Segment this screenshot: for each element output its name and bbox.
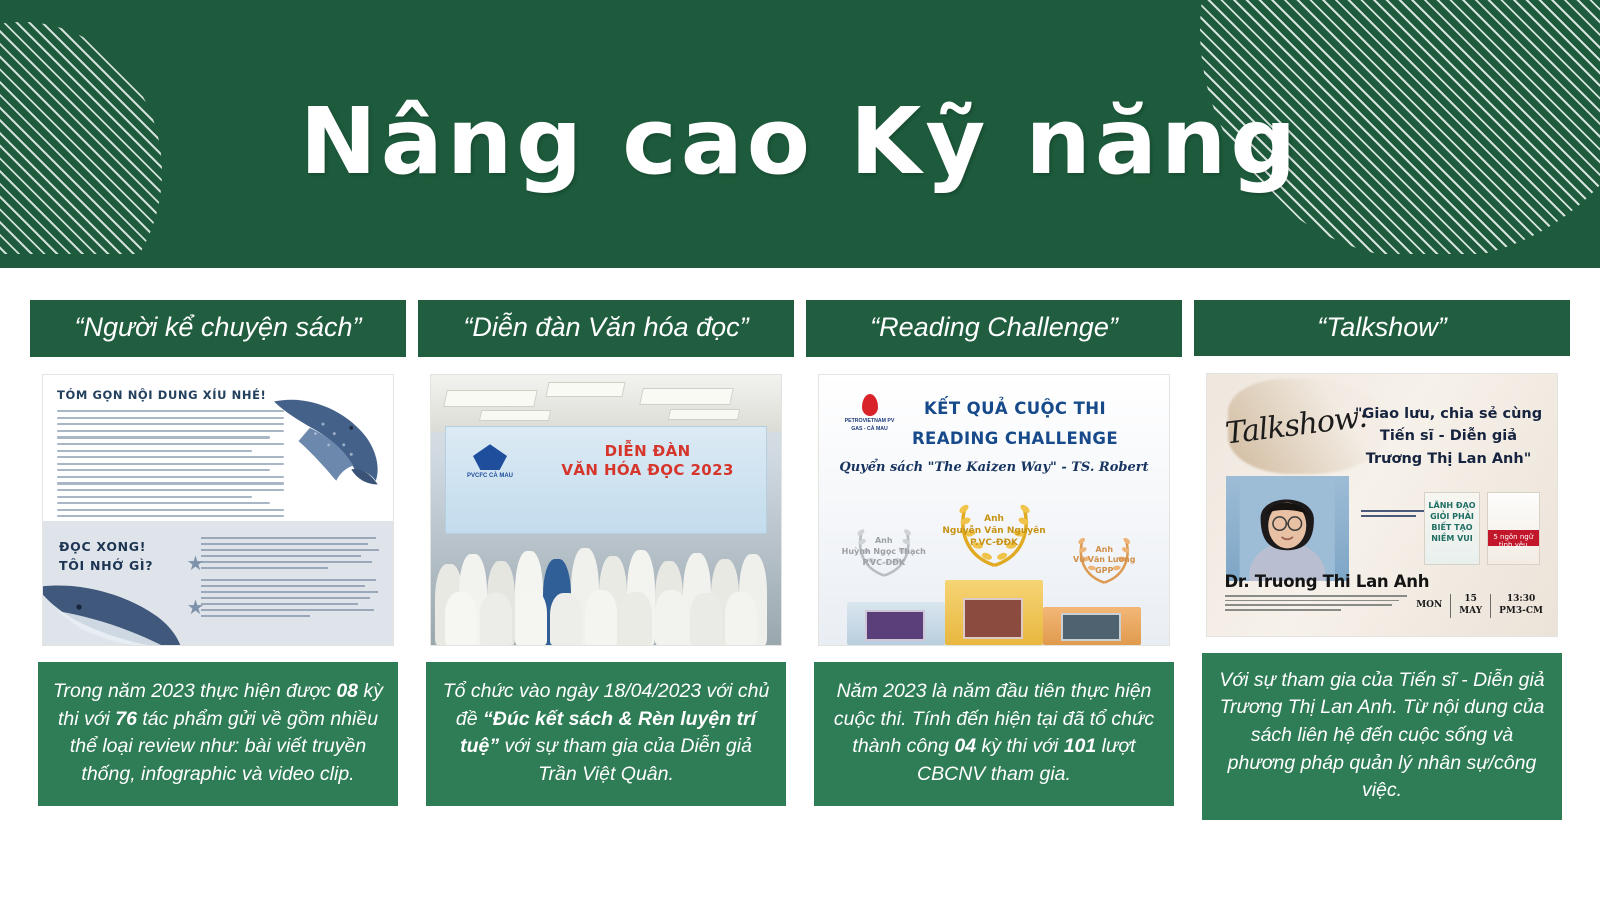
winner-photo-silver — [865, 610, 926, 641]
speaker-portrait — [1226, 476, 1349, 581]
card-reading-challenge[interactable]: “Reading Challenge” PETROVIETNAM PV GAS … — [806, 300, 1182, 820]
star-bullet-icon: ★ — [187, 595, 205, 620]
book-cover-1: LÃNH ĐẠO GIỎI PHẢI BIẾT TẠO NIỀM VUI — [1424, 492, 1480, 565]
card-talkshow[interactable]: “Talkshow” Talkshow: "Giao lưu, chia sẻ … — [1194, 300, 1570, 820]
winner-photo-bronze — [1061, 613, 1122, 642]
card-grid: “Người kể chuyện sách” TÓM GỌN NỘI DUNG … — [0, 300, 1600, 820]
page-title: Nâng cao Kỹ năng — [0, 92, 1600, 191]
whale-illustration-bottom — [42, 577, 187, 646]
card-title: “Reading Challenge” — [806, 300, 1182, 357]
card-title: “Talkshow” — [1194, 300, 1570, 356]
header-banner: Nâng cao Kỹ năng — [0, 0, 1600, 268]
card-image-results-poster: PETROVIETNAM PV GAS - CÀ MAU KẾT QUẢ CUỘ… — [818, 374, 1170, 646]
backdrop-text: DIỄN ĐÀN VĂN HÓA ĐỌC 2023 — [542, 442, 753, 480]
ceiling-lights — [431, 375, 781, 432]
speaker-bio-lines — [1225, 595, 1407, 613]
card-dien-dan-van-hoa-doc[interactable]: “Diễn đàn Văn hóa đọc” PVCFC CÀ MAU — [418, 300, 794, 820]
winner-bronze: Anh Vũ Văn Lương GPP — [1057, 524, 1152, 577]
winner-photo-gold — [963, 598, 1024, 638]
slide-root: Nâng cao Kỹ năng “Người kể chuyện sách” … — [0, 0, 1600, 900]
infographic-body-lines — [57, 410, 284, 517]
company-logo: PVCFC CÀ MAU — [462, 444, 518, 479]
winner-silver: Anh Huỳnh Ngọc Thạch P.VC-ĐĐK — [837, 515, 932, 568]
results-heading-line2: READING CHALLENGE — [882, 429, 1148, 448]
date-weekday: MON — [1416, 600, 1442, 612]
event-date-badge: MON 15 MAY 13:30 PM3-CM — [1416, 594, 1543, 618]
winner-gold: Anh Nguyễn Văn Nguyên P.VC-ĐĐK — [935, 486, 1054, 549]
card-caption: Tổ chức vào ngày 18/04/2023 với chủ đề “… — [426, 662, 786, 806]
card-caption: Trong năm 2023 thực hiện được 08 kỳ thi … — [38, 662, 398, 806]
infographic-right-column-lines — [201, 537, 383, 621]
card-title: “Người kể chuyện sách” — [30, 300, 406, 357]
card-nguoi-ke-chuyen-sach[interactable]: “Người kể chuyện sách” TÓM GỌN NỘI DUNG … — [30, 300, 406, 820]
results-subtitle: Quyển sách "The Kaizen Way" - TS. Robert — [833, 460, 1155, 475]
podium-third — [1043, 607, 1141, 645]
group-of-people — [431, 488, 781, 645]
book-cover-2: 5 ngôn ngữ tình yêu — [1487, 492, 1540, 565]
card-image-infographic: TÓM GỌN NỘI DUNG XÍU NHÉ! — [42, 374, 394, 646]
card-title: “Diễn đàn Văn hóa đọc” — [418, 300, 794, 357]
date-day-month: 15 MAY — [1459, 594, 1482, 617]
date-time-venue: 13:30 PM3-CM — [1499, 594, 1543, 617]
talkshow-headline: "Giao lưu, chia sẻ cùng Tiến sĩ - Diễn g… — [1354, 403, 1543, 470]
card-image-group-photo: PVCFC CÀ MAU DIỄN ĐÀN VĂN HÓA ĐỌC 2023 — [430, 374, 782, 646]
speaker-name: Dr. Truong Thi Lan Anh — [1225, 572, 1430, 591]
podium-second — [847, 602, 945, 645]
card-caption: Năm 2023 là năm đầu tiên thực hiện cuộc … — [814, 662, 1174, 806]
star-bullet-icon: ★ — [187, 551, 205, 576]
results-heading-line1: KẾT QUẢ CUỘC THI — [882, 399, 1148, 418]
whale-illustration-top — [257, 383, 389, 503]
podium-first — [945, 580, 1043, 645]
card-image-talkshow-poster: Talkshow: "Giao lưu, chia sẻ cùng Tiến s… — [1206, 373, 1558, 637]
card-caption: Với sự tham gia của Tiến sĩ - Diễn giả T… — [1202, 653, 1562, 820]
banner-base-strip — [0, 254, 1600, 268]
